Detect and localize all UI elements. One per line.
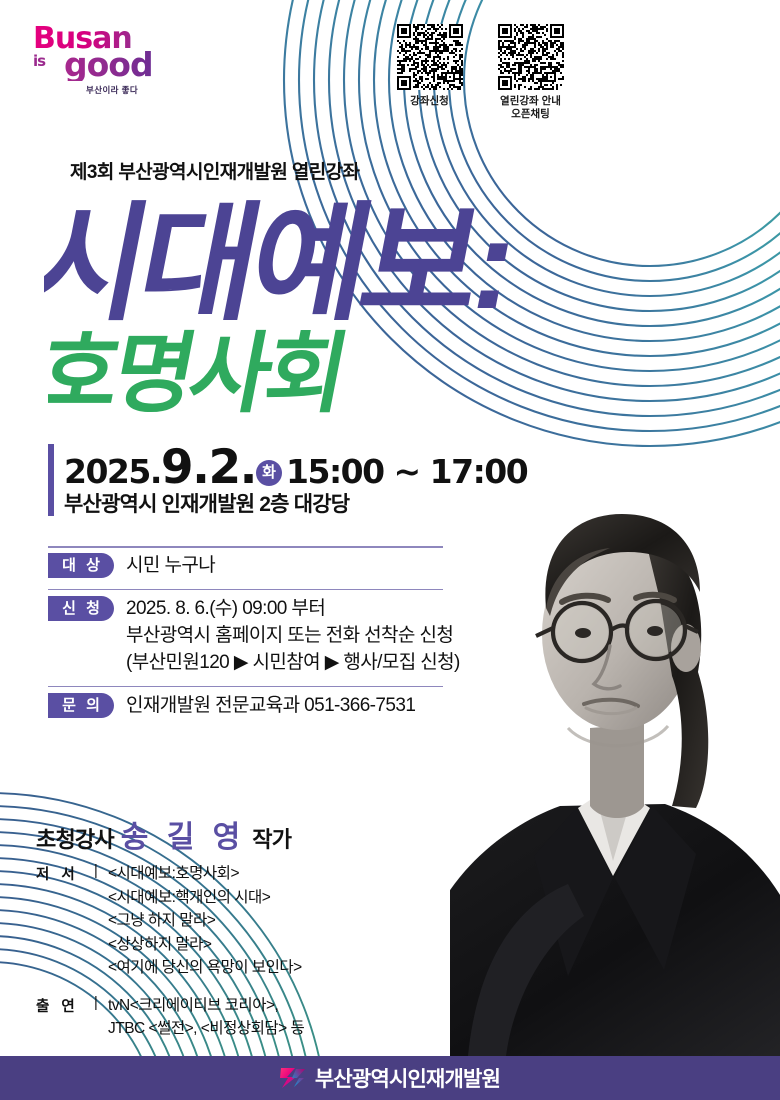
- info-row-application: 신 청 2025. 8. 6.(수) 09:00 부터 부산광역시 홈페이지 또…: [48, 589, 478, 677]
- speaker-prefix: 초청강사: [36, 827, 114, 852]
- info-divider: [48, 546, 443, 548]
- credit-separator: |: [94, 994, 108, 1041]
- busan-hrd-mark-icon: [280, 1066, 306, 1090]
- qr-caption-apply: 강좌신청: [392, 95, 467, 108]
- info-line: (부산민원120 ▶ 시민참여 ▶ 행사/모집 신청): [126, 652, 460, 673]
- info-line: 2025. 8. 6.(수) 09:00 부터: [126, 598, 325, 619]
- event-info-list: 대 상 시민 누구나 신 청 2025. 8. 6.(수) 09:00 부터 부…: [48, 546, 478, 729]
- kicker-rest: 부산광역시인재개발원 열린강좌: [118, 162, 359, 183]
- event-dayofweek-badge: 화: [256, 460, 282, 486]
- info-label-target: 대 상: [48, 553, 114, 578]
- info-line: 부산광역시 홈페이지 또는 전화 선착순 신청: [126, 625, 453, 646]
- credit-row-appearances: 출 연 | tvN<크리에이티브 코리아>, JTBC <썰전>, <비정상회담…: [36, 994, 456, 1041]
- credit-label-appearances: 출 연: [36, 994, 94, 1041]
- info-line: 시민 누구나: [126, 555, 215, 576]
- footer-organization: 부산광역시인재개발원: [315, 1063, 500, 1093]
- event-venue: 부산광역시 인재개발원 2층 대강당: [64, 488, 349, 518]
- speaker-name: 송 길 영: [121, 821, 245, 854]
- list-item: <시대예보:호명사회>: [108, 862, 302, 886]
- logo-is-text: is: [33, 54, 45, 69]
- credit-separator: |: [94, 862, 108, 980]
- busan-is-good-logo: Busan is good 부산이라 좋다: [28, 24, 158, 96]
- speaker-suffix: 작가: [252, 827, 291, 852]
- list-item: <여기에 당신의 욕망이 보인다>: [108, 956, 302, 980]
- page-title-sub: 호명사회: [48, 326, 468, 421]
- event-day: 2.: [208, 440, 256, 495]
- footer-bar: 부산광역시인재개발원: [0, 1056, 780, 1100]
- credit-row-books: 저 서 | <시대예보:호명사회> <시대예보:핵개인의 시대> <그냥 하지 …: [36, 862, 456, 980]
- info-value-contact: 인재개발원 전문교육과 051-366-7531: [126, 693, 415, 720]
- speaker-portrait-photo: [450, 356, 780, 1056]
- page-kicker: 제3회 부산광역시인재개발원 열린강좌: [70, 157, 359, 184]
- event-month: 9.: [161, 440, 209, 495]
- info-label-contact: 문 의: [48, 693, 114, 718]
- qr-code-group: 강좌신청 열린강좌 안내 오픈채팅: [392, 24, 568, 121]
- qr-code-icon[interactable]: [498, 24, 564, 90]
- speaker-headline: 초청강사송 길 영작가: [36, 812, 291, 856]
- page-title-main: 시대예보:: [44, 196, 644, 336]
- info-value-target: 시민 누구나: [126, 553, 215, 580]
- info-label-application: 신 청: [48, 596, 114, 621]
- qr-item-openchat[interactable]: 열린강좌 안내 오픈채팅: [493, 24, 568, 121]
- list-item: JTBC <썰전>, <비정상회담> 등: [108, 1017, 304, 1041]
- info-divider: [48, 589, 443, 591]
- event-year: 2025.: [64, 452, 161, 491]
- speaker-credits: 저 서 | <시대예보:호명사회> <시대예보:핵개인의 시대> <그냥 하지 …: [36, 862, 456, 1055]
- logo-good-text: good: [64, 48, 153, 81]
- qr-item-apply[interactable]: 강좌신청: [392, 24, 467, 121]
- credit-list-books: <시대예보:호명사회> <시대예보:핵개인의 시대> <그냥 하지 말라> <상…: [108, 862, 302, 980]
- logo-slogan: 부산이라 좋다: [86, 84, 138, 96]
- poster-root: Busan is good 부산이라 좋다 강좌신청 열린강좌 안내 오픈채팅 …: [0, 0, 780, 1100]
- list-item: <상상하지 말라>: [108, 933, 302, 957]
- info-row-contact: 문 의 인재개발원 전문교육과 051-366-7531: [48, 686, 478, 720]
- info-divider: [48, 686, 443, 688]
- qr-code-icon[interactable]: [397, 24, 463, 90]
- kicker-ordinal: 제3회: [70, 162, 114, 183]
- credit-label-books: 저 서: [36, 862, 94, 980]
- list-item: tvN<크리에이티브 코리아>,: [108, 994, 304, 1018]
- info-row-target: 대 상 시민 누구나: [48, 546, 478, 580]
- info-value-application: 2025. 8. 6.(수) 09:00 부터 부산광역시 홈페이지 또는 전화…: [126, 596, 460, 677]
- qr-caption-openchat: 열린강좌 안내 오픈채팅: [493, 95, 568, 121]
- svg-text:호명사회: 호명사회: [48, 326, 352, 421]
- credit-list-appearances: tvN<크리에이티브 코리아>, JTBC <썰전>, <비정상회담> 등: [108, 994, 304, 1041]
- info-line: 인재개발원 전문교육과 051-366-7531: [126, 695, 415, 716]
- list-item: <시대예보:핵개인의 시대>: [108, 886, 302, 910]
- list-item: <그냥 하지 말라>: [108, 909, 302, 933]
- svg-text:시대예보:: 시대예보:: [44, 196, 523, 336]
- accent-bar: [48, 444, 54, 516]
